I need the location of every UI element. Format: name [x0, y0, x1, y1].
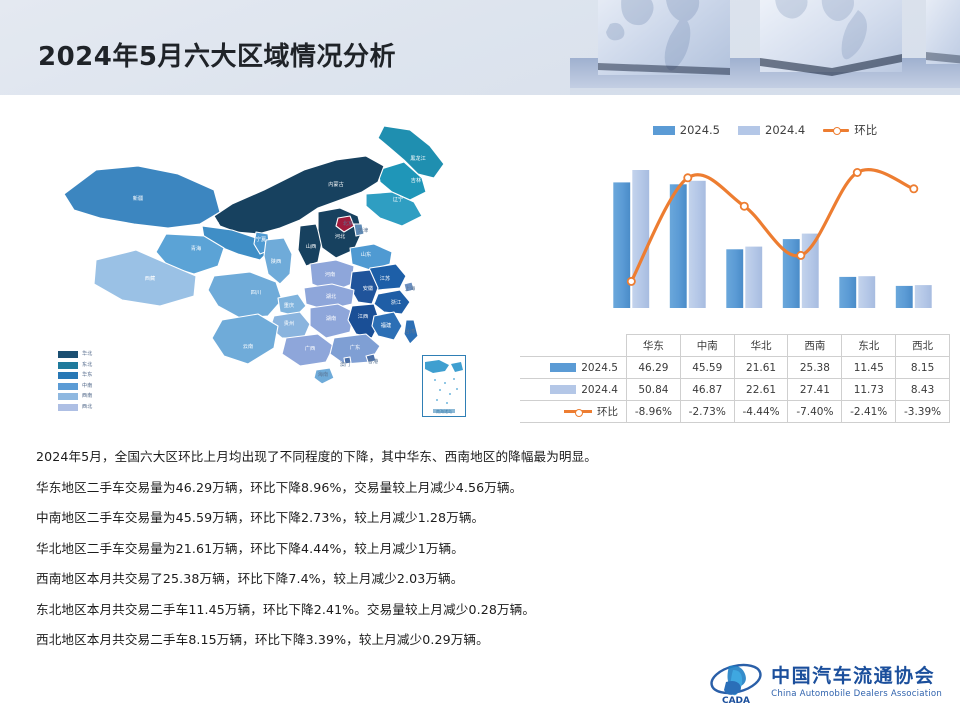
chart-plot-area	[520, 142, 950, 317]
map-legend: 华北东北华东中南西南西北	[58, 350, 93, 413]
table-column-header: 东北	[842, 335, 896, 357]
map-legend-label: 西北	[82, 404, 93, 411]
province-label: 海南	[318, 370, 328, 378]
table-corner-cell	[520, 335, 627, 357]
map-legend-label: 华东	[82, 372, 93, 379]
province-label: 河北	[335, 232, 346, 240]
chart-legend-bar-key	[738, 126, 760, 135]
map-legend-label: 中南	[82, 383, 93, 390]
china-map-area: 黑龙江吉林辽宁内蒙古新疆甘肃青海西藏宁夏陕西山西河北北京天津山东河南江苏安徽上海…	[18, 108, 458, 428]
table-row-label: 2024.5	[581, 362, 618, 374]
table-cell: 46.87	[680, 379, 734, 401]
table-cell: 22.61	[734, 379, 788, 401]
map-legend-label: 东北	[82, 362, 93, 369]
map-legend-swatch	[58, 404, 78, 411]
table-header-row: 华东中南华北西南东北西北	[520, 335, 950, 357]
table-cell: 27.41	[788, 379, 842, 401]
province-label: 天津	[358, 227, 368, 234]
chart-line-marker	[741, 203, 748, 210]
province-label: 陕西	[271, 257, 281, 265]
province-label: 上海	[405, 284, 415, 292]
chart-bar	[915, 285, 932, 308]
province-label: 重庆	[284, 301, 294, 309]
province-label: 黑龙江	[410, 154, 426, 162]
province-label: 宁夏	[256, 235, 267, 243]
table-column-header: 西北	[896, 335, 950, 357]
province-label: 福建	[381, 321, 391, 329]
analysis-paragraph: 2024年5月，全国六大区环比上月均出现了不同程度的下降，其中华东、西南地区的降…	[36, 448, 736, 465]
province-label: 澳门	[340, 360, 350, 368]
logo-name-cn: 中国汽车流通协会	[771, 667, 942, 686]
chart-legend-item-line[interactable]: 环比	[823, 122, 877, 138]
province-label: 香港	[368, 357, 379, 365]
chart-legend-item[interactable]: 2024.5	[653, 123, 720, 137]
province-label: 贵州	[284, 319, 294, 327]
sea-inset-graphic	[423, 356, 465, 416]
sea-inset-label: 南海诸岛	[423, 409, 465, 415]
table-cell: 21.61	[734, 357, 788, 379]
province-label: 广西	[305, 344, 315, 352]
province-label: 甘肃	[209, 220, 219, 228]
province-label: 湖北	[326, 292, 337, 300]
chart-legend-item[interactable]: 2024.4	[738, 123, 805, 137]
table-cell: 25.38	[788, 357, 842, 379]
table-cell: 8.15	[896, 357, 950, 379]
south-china-sea-inset: 南海诸岛	[422, 355, 466, 417]
table-cell: -4.44%	[734, 401, 788, 423]
analysis-paragraph: 中南地区二手车交易量为45.59万辆，环比下降2.73%，较上月减少1.28万辆…	[36, 509, 736, 526]
map-legend-swatch	[58, 362, 78, 369]
chart-bar	[745, 247, 762, 308]
chart-legend-label: 环比	[854, 122, 877, 138]
chart-bar	[670, 184, 687, 308]
analysis-paragraph: 华北地区二手车交易量为21.61万辆，环比下降4.44%，较上月减少1万辆。	[36, 540, 736, 557]
map-legend-item: 华北	[58, 350, 93, 360]
slide-header: 2024年5月六大区域情况分析	[0, 0, 960, 95]
analysis-paragraph: 西北地区本月共交易二手车8.15万辆，环比下降3.39%，较上月减少0.29万辆…	[36, 631, 736, 648]
table-row: 2024.450.8446.8722.6127.4111.738.43	[520, 379, 950, 401]
logo-name-en: China Automobile Dealers Association	[771, 690, 942, 699]
map-legend-item: 华东	[58, 371, 93, 381]
chart-bar	[839, 277, 856, 308]
cada-logo: CADA 中国汽车流通协会 China Automobile Dealers A…	[709, 660, 942, 706]
table-body: 2024.546.2945.5921.6125.3811.458.152024.…	[520, 357, 950, 423]
table-row: 环比-8.96%-2.73%-4.44%-7.40%-2.41%-3.39%	[520, 401, 950, 423]
province-label: 江苏	[380, 274, 390, 282]
table-row: 2024.546.2945.5921.6125.3811.458.15	[520, 357, 950, 379]
table-cell: -8.96%	[627, 401, 681, 423]
map-legend-label: 西南	[82, 393, 93, 400]
province-label: 四川	[251, 289, 261, 296]
province-label: 安徽	[363, 284, 374, 292]
analysis-paragraph: 华东地区二手车交易量为46.29万辆，环比下降8.96%，交易量较上月减少4.5…	[36, 479, 736, 496]
table-cell: 45.59	[680, 357, 734, 379]
map-legend-swatch	[58, 393, 78, 400]
table-cell: 11.73	[842, 379, 896, 401]
province-label: 山东	[361, 250, 371, 258]
region-data-table: 华东中南华北西南东北西北 2024.546.2945.5921.6125.381…	[520, 334, 950, 423]
chart-legend-bar-key	[653, 126, 675, 135]
table-cell: -2.73%	[680, 401, 734, 423]
map-legend-item: 中南	[58, 382, 93, 392]
table-key-bar	[550, 363, 576, 372]
table-row-header: 环比	[520, 401, 627, 423]
map-legend-swatch	[58, 351, 78, 358]
chart-bar	[858, 276, 875, 308]
chart-legend-label: 2024.5	[680, 123, 720, 137]
map-legend-item: 西北	[58, 403, 93, 413]
chart-bar	[802, 234, 819, 308]
chart-bar	[726, 249, 743, 308]
province-label: 内蒙古	[328, 180, 344, 188]
province-label: 辽宁	[393, 195, 403, 203]
table-row-label: 2024.4	[581, 384, 618, 396]
table-cell: 11.45	[842, 357, 896, 379]
analysis-paragraph: 西南地区本月共交易了25.38万辆，环比下降7.4%，较上月减少2.03万辆。	[36, 570, 736, 587]
table-column-header: 中南	[680, 335, 734, 357]
table-cell: -3.39%	[896, 401, 950, 423]
table-head: 华东中南华北西南东北西北	[520, 335, 950, 357]
province-label: 新疆	[133, 194, 143, 202]
map-legend-swatch	[58, 372, 78, 379]
header-decoration-cubes	[570, 0, 960, 95]
province-label: 西藏	[145, 274, 156, 282]
analysis-paragraph: 东北地区本月共交易二手车11.45万辆，环比下降2.41%。交易量较上月减少0.…	[36, 601, 736, 618]
province-label: 河南	[325, 270, 335, 278]
chart-legend-line-key	[823, 126, 849, 135]
province-label: 浙江	[391, 298, 401, 306]
table-column-header: 华东	[627, 335, 681, 357]
province-label: 台湾	[405, 327, 415, 335]
chart-bar	[632, 170, 649, 308]
table-cell: -2.41%	[842, 401, 896, 423]
chart-bar	[896, 286, 913, 308]
map-legend-item: 西南	[58, 392, 93, 402]
table-key-bar	[550, 385, 576, 394]
table-row-header: 2024.5	[520, 357, 627, 379]
table-row-header: 2024.4	[520, 379, 627, 401]
chart-line-marker	[797, 252, 804, 259]
province-label: 山西	[306, 242, 316, 250]
chart-bar	[689, 181, 706, 308]
province-label: 湖南	[326, 314, 336, 322]
slide-root: 2024年5月六大区域情况分析	[0, 0, 960, 720]
page-title: 2024年5月六大区域情况分析	[38, 36, 396, 73]
table-column-header: 西南	[788, 335, 842, 357]
chart-bar	[613, 182, 630, 308]
analysis-text: 2024年5月，全国六大区环比上月均出现了不同程度的下降，其中华东、西南地区的降…	[36, 448, 736, 662]
chart-svg	[520, 142, 950, 317]
chart-line-marker	[854, 169, 861, 176]
province-label: 广东	[350, 343, 360, 351]
map-legend-item: 东北	[58, 361, 93, 371]
cada-logo-mark: CADA	[709, 660, 763, 706]
province-label: 北京	[343, 219, 353, 227]
map-legend-label: 华北	[82, 351, 93, 358]
map-legend-swatch	[58, 383, 78, 390]
cada-logo-text: 中国汽车流通协会 China Automobile Dealers Associ…	[771, 667, 942, 699]
chart-legend: 2024.52024.4环比	[520, 118, 950, 142]
province-label: 吉林	[411, 176, 422, 184]
table-cell: -7.40%	[788, 401, 842, 423]
table-cell: 46.29	[627, 357, 681, 379]
table-row-label: 环比	[597, 404, 618, 419]
cada-emblem-icon: CADA	[709, 660, 763, 706]
table-key-line	[564, 407, 592, 416]
cubes-graphic	[570, 0, 960, 95]
chart-line-marker	[628, 278, 635, 285]
province-label: 江西	[358, 313, 368, 320]
chart-line-marker	[910, 185, 917, 192]
chart-line-marker	[684, 174, 691, 181]
province-label: 青海	[191, 244, 201, 252]
table-cell: 8.43	[896, 379, 950, 401]
table-cell: 50.84	[627, 379, 681, 401]
table-column-header: 华北	[734, 335, 788, 357]
chart-legend-label: 2024.4	[765, 123, 805, 137]
cada-mark-text: CADA	[722, 696, 750, 706]
province-label: 云南	[243, 342, 253, 350]
